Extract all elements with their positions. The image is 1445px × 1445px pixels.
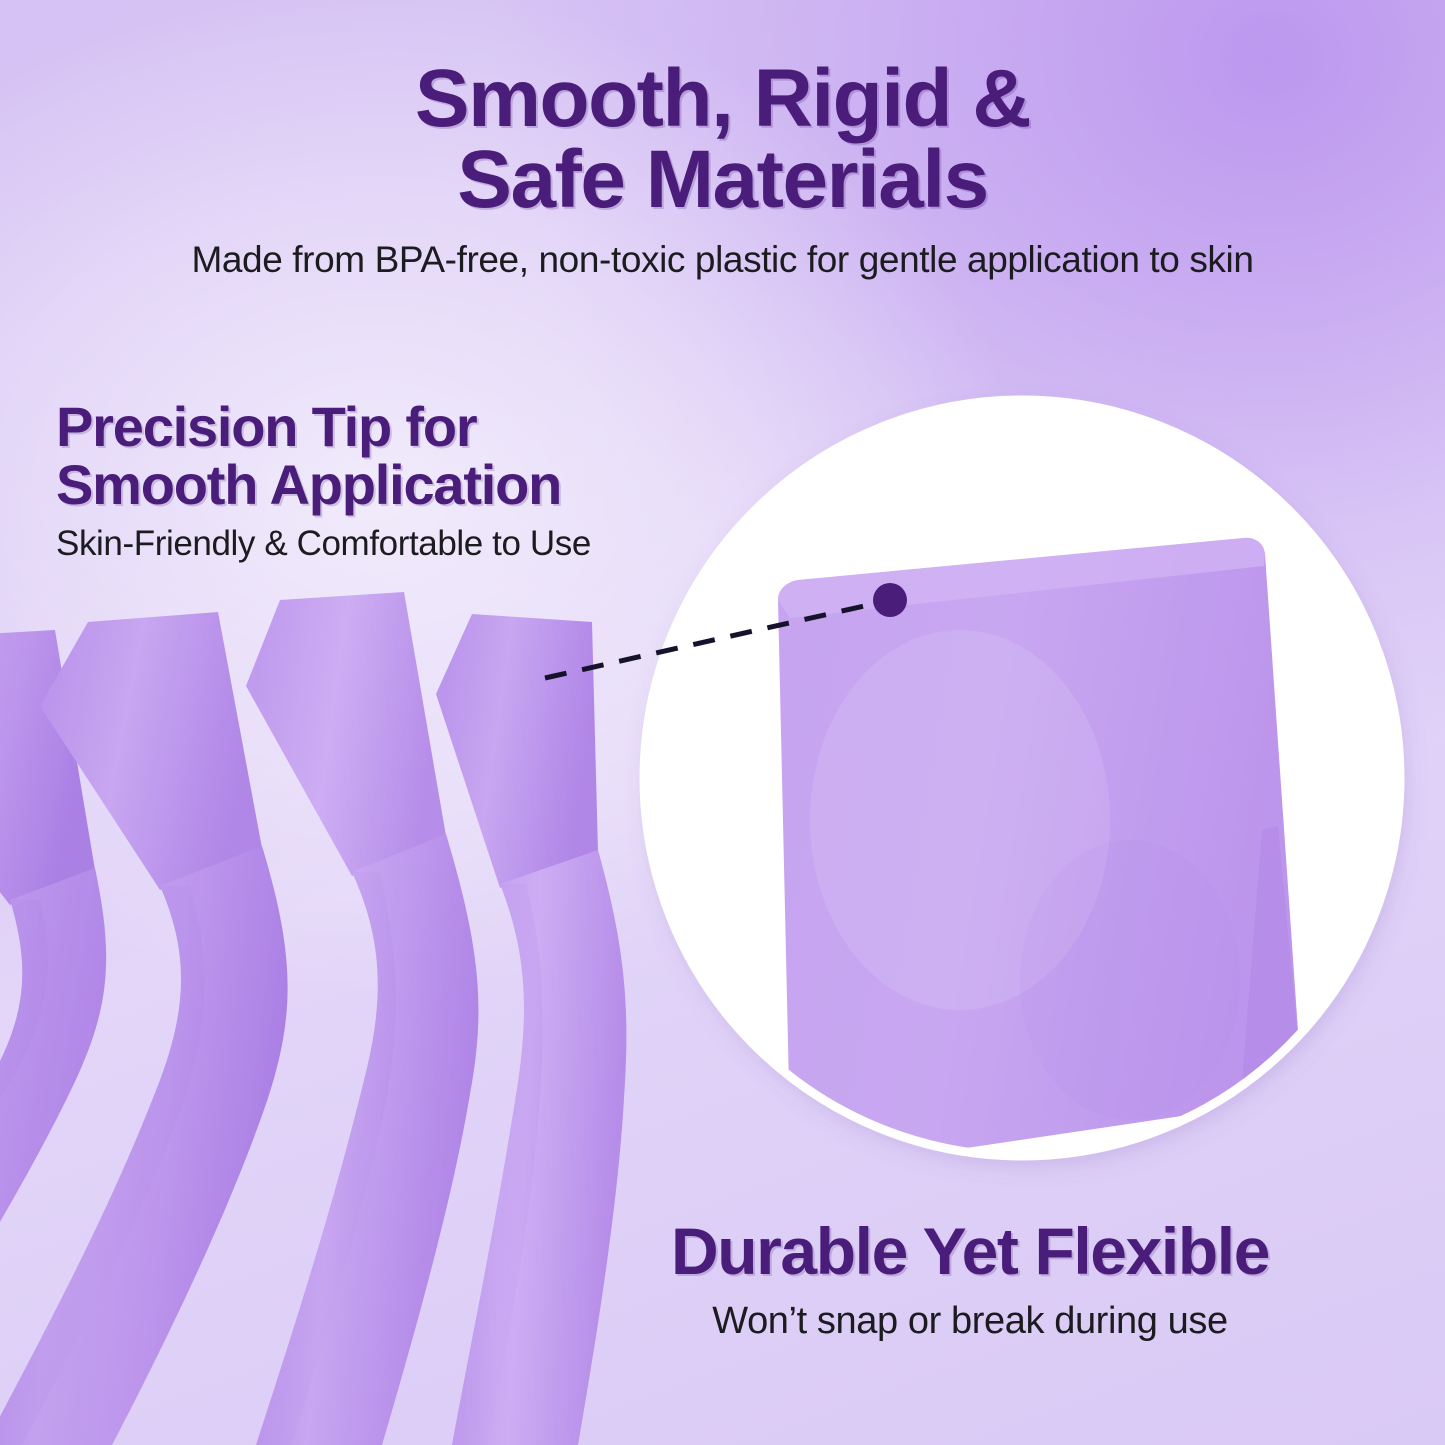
feature-precision-subtitle: Skin-Friendly & Comfortable to Use — [56, 524, 746, 564]
magnifier-callout — [0, 0, 1445, 1445]
dashed-leader-line — [545, 602, 882, 678]
spatula-4 — [436, 614, 626, 1445]
text-overlay: Smooth, Rigid & Safe Materials Made from… — [0, 0, 1445, 1445]
callout-circle-background — [644, 400, 1400, 1156]
callout-leader — [0, 0, 1445, 1445]
feature-precision-title: Precision Tip for Smooth Application — [56, 398, 746, 514]
feature-precision-tip: Precision Tip for Smooth Application Ski… — [56, 398, 746, 564]
product-infographic: Smooth, Rigid & Safe Materials Made from… — [0, 0, 1445, 1445]
spatula-2 — [0, 612, 288, 1445]
spatula-neck-shading — [0, 872, 543, 1445]
spatula-fan-illustration — [0, 0, 1445, 1445]
spatula-1 — [0, 630, 106, 1445]
spatula-group — [0, 592, 626, 1445]
headline-line-1: Smooth, Rigid & — [415, 53, 1030, 144]
marker-dot-icon — [873, 583, 907, 617]
magnified-blade — [778, 538, 1300, 1169]
feature-precision-title-line-2: Smooth Application — [56, 456, 746, 514]
feature-durable-subtitle: Won’t snap or break during use — [505, 1300, 1435, 1343]
headline-line-2: Safe Materials — [0, 139, 1445, 220]
page-title: Smooth, Rigid & Safe Materials — [0, 58, 1445, 220]
callout-circle-ring — [644, 400, 1400, 1156]
feature-precision-title-line-1: Precision Tip for — [56, 395, 476, 458]
headline-block: Smooth, Rigid & Safe Materials Made from… — [0, 58, 1445, 281]
feature-durable-title: Durable Yet Flexible — [505, 1218, 1435, 1286]
headline-subtitle: Made from BPA-free, non-toxic plastic fo… — [0, 240, 1445, 281]
feature-durable-flexible: Durable Yet Flexible Won’t snap or break… — [505, 1218, 1435, 1343]
spatula-3 — [246, 592, 478, 1445]
